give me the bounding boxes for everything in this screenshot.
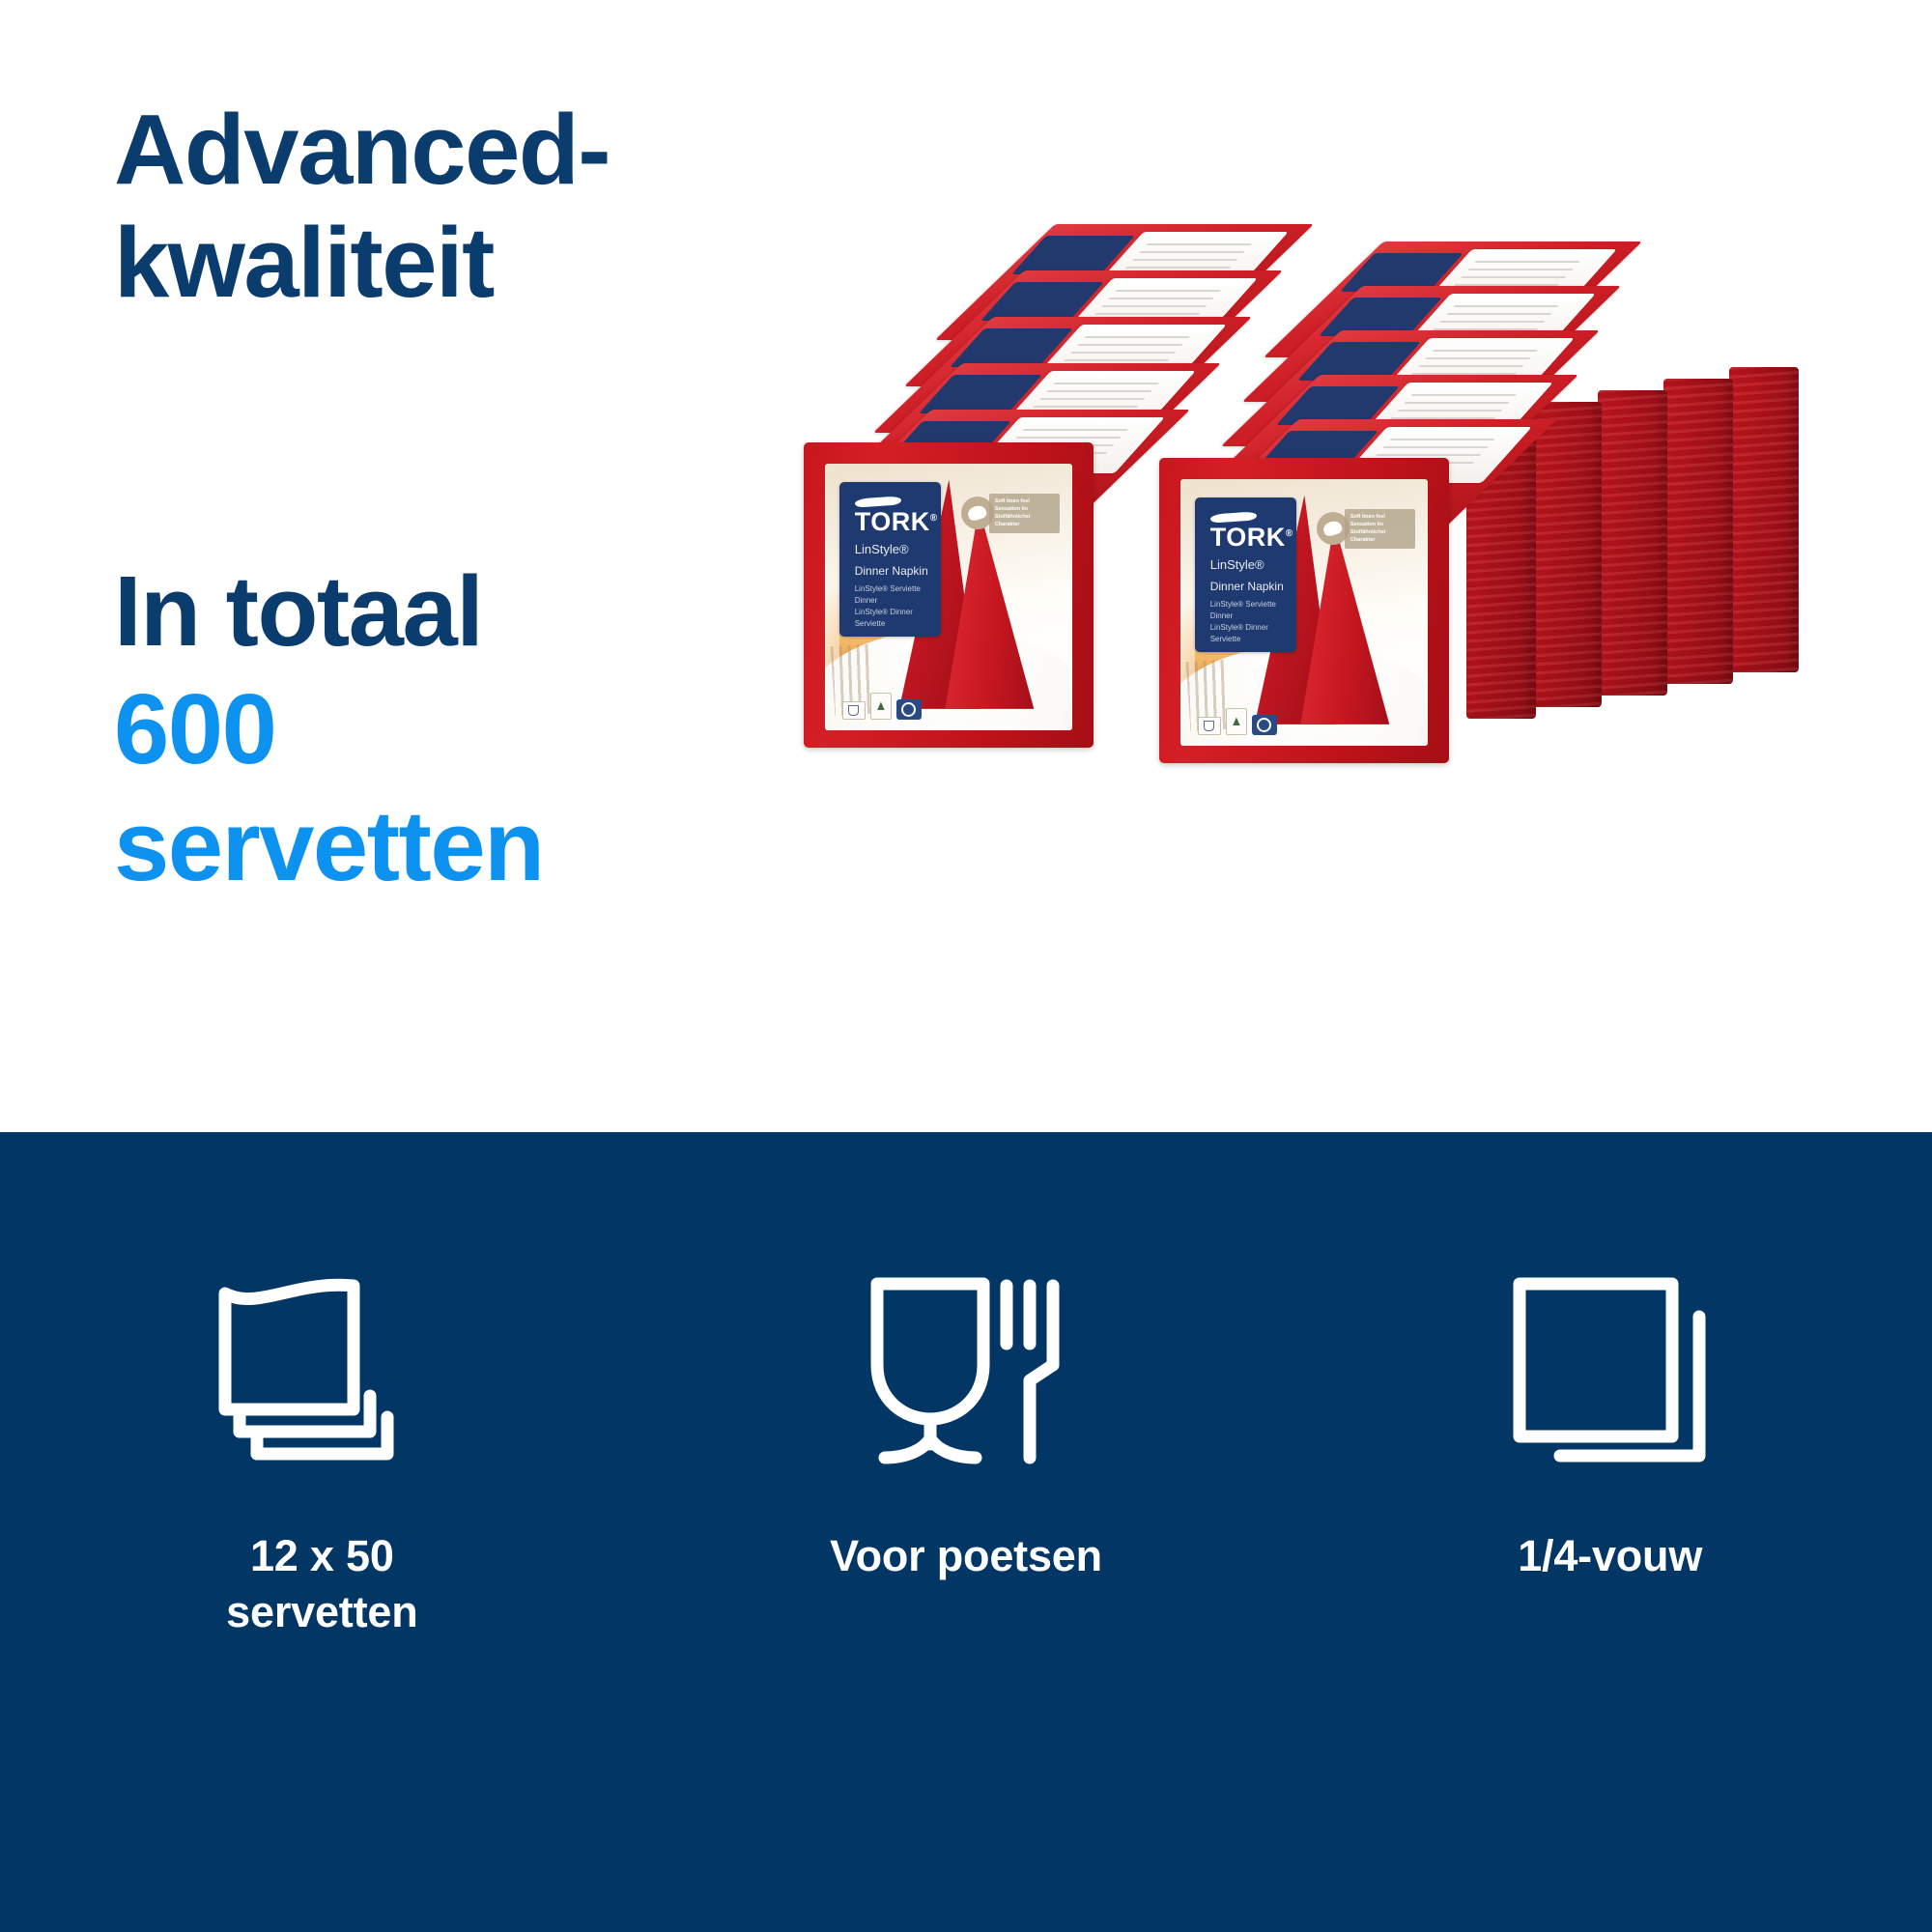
headline-line-1: Advanced-: [114, 93, 848, 206]
badge-text: Soft linen feel Sensation lin Stoffähnli…: [989, 494, 1060, 533]
pack-artwork: TORK® LinStyle® Dinner Napkin LinStyle® …: [1180, 479, 1428, 746]
brand-name: TORK: [855, 507, 930, 536]
food-safe-icon: [842, 701, 866, 720]
badge-line: Sensation lin: [1350, 521, 1409, 528]
fsc-certified-icon: [1226, 708, 1247, 735]
product-bullets: LinStyle® Serviette Dinner LinStyle® Din…: [855, 583, 929, 630]
food-safe-icon: [1198, 717, 1221, 735]
napkin-stack-icon: [218, 1260, 426, 1482]
top-white-section: Advanced- kwaliteit In totaal 600 servet…: [0, 0, 1932, 1132]
page-title: Advanced- kwaliteit: [114, 93, 848, 320]
headline-block: Advanced- kwaliteit: [114, 93, 848, 320]
pack-label: TORK® LinStyle® Dinner Napkin LinStyle® …: [839, 482, 941, 637]
eco-logo-row: [842, 693, 922, 720]
brand-name: TORK: [1210, 523, 1286, 552]
feature-label-line-1: Voor poetsen: [830, 1528, 1102, 1584]
recycling-icon: [1252, 715, 1277, 735]
feature-label: Voor poetsen: [830, 1528, 1102, 1584]
product-bullets: LinStyle® Serviette Dinner LinStyle® Din…: [1210, 599, 1285, 645]
feature-item-use-case: Voor poetsen: [644, 1132, 1289, 1584]
product-bullet: LinStyle® Dinner Serviette: [855, 607, 929, 630]
headline-line-2: kwaliteit: [114, 206, 848, 319]
product-pack-edge: [1729, 367, 1799, 672]
brand-logo: TORK®: [855, 509, 929, 535]
feature-label-line-1: 1/4-vouw: [1518, 1528, 1702, 1584]
badge-line: Sensation lin: [995, 505, 1054, 513]
quarter-fold-napkin-icon: [1510, 1260, 1711, 1482]
soft-linen-badge: Soft linen feel Sensation lin Stoffähnli…: [1317, 503, 1415, 554]
feature-label: 12 x 50 servetten: [226, 1528, 417, 1639]
feature-item-fold-type: 1/4-vouw: [1288, 1132, 1932, 1584]
product-range: LinStyle®: [855, 542, 929, 557]
feature-label-line-2: servetten: [226, 1584, 417, 1640]
product-bullet: LinStyle® Dinner Serviette: [1210, 622, 1285, 645]
pack-artwork: TORK® LinStyle® Dinner Napkin LinStyle® …: [825, 464, 1072, 730]
badge-line: Stoffähnlicher Charakter: [1350, 528, 1409, 545]
pack-label: TORK® LinStyle® Dinner Napkin LinStyle® …: [1195, 497, 1296, 652]
product-pack-edge: [1663, 379, 1733, 684]
product-bullet: LinStyle® Serviette Dinner: [855, 583, 929, 607]
feature-panel: 12 x 50 servetten: [0, 1132, 1932, 1932]
badge-line: Soft linen feel: [1350, 513, 1409, 521]
fsc-certified-icon: [870, 693, 892, 720]
feature-item-pack-count: 12 x 50 servetten: [0, 1132, 644, 1639]
product-marketing-banner: Advanced- kwaliteit In totaal 600 servet…: [0, 0, 1932, 1932]
product-bullet: LinStyle® Serviette Dinner: [1210, 599, 1285, 622]
badge-text: Soft linen feel Sensation lin Stoffähnli…: [1345, 509, 1415, 549]
eco-logo-row: [1198, 708, 1277, 735]
badge-line: Stoffähnlicher Charakter: [995, 513, 1054, 529]
badge-line: Soft linen feel: [995, 497, 1054, 505]
product-type: Dinner Napkin: [855, 564, 929, 579]
product-range: LinStyle®: [1210, 557, 1285, 573]
brand-logo: TORK®: [1210, 525, 1285, 551]
tork-wave-icon: [855, 496, 901, 507]
product-image: TORK® LinStyle® Dinner Napkin LinStyle® …: [744, 222, 1893, 918]
glass-and-fork-icon: [860, 1260, 1072, 1482]
product-pack-front: TORK® LinStyle® Dinner Napkin LinStyle® …: [1159, 458, 1449, 763]
product-pack-edge: [1532, 402, 1602, 707]
tork-wave-icon: [1210, 511, 1257, 523]
product-pack-edge: [1598, 390, 1667, 696]
product-pack-front: TORK® LinStyle® Dinner Napkin LinStyle® …: [804, 442, 1094, 748]
feature-label: 1/4-vouw: [1518, 1528, 1702, 1584]
feature-label-line-1: 12 x 50: [226, 1528, 417, 1584]
feature-list: 12 x 50 servetten: [0, 1132, 1932, 1932]
recycling-icon: [896, 699, 922, 720]
product-type: Dinner Napkin: [1210, 580, 1285, 594]
soft-linen-badge: Soft linen feel Sensation lin Stoffähnli…: [961, 488, 1060, 538]
